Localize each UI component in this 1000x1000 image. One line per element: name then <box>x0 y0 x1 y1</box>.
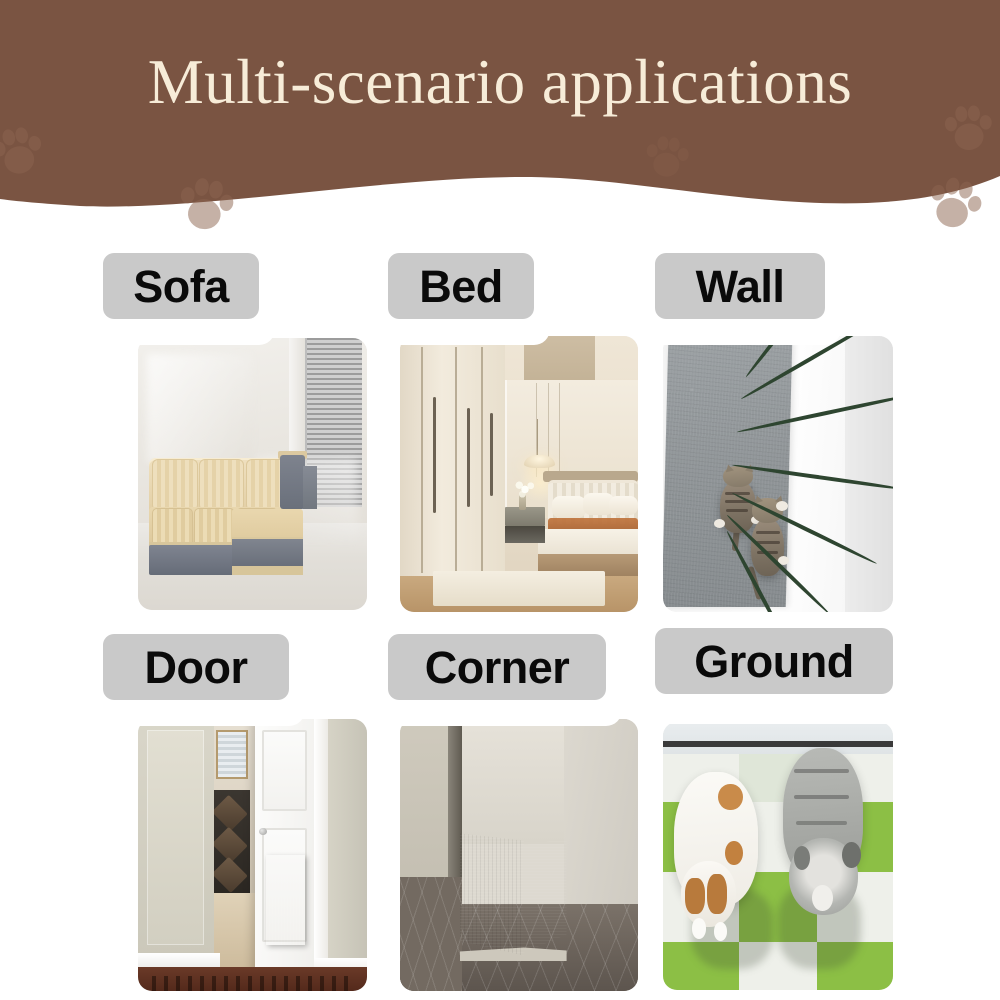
bed-photo <box>400 336 638 612</box>
door-photo <box>138 719 367 991</box>
corner-scratch-mat-left <box>460 833 524 955</box>
scenario-badge-sofa[interactable]: Sofa <box>103 253 259 319</box>
sofa-photo <box>138 338 367 610</box>
scenario-badge-door[interactable]: Door <box>103 634 289 700</box>
scenario-badge-wall[interactable]: Wall <box>655 253 825 319</box>
scenario-badge-corner[interactable]: Corner <box>388 634 606 700</box>
cat-gray-fluffy <box>769 743 884 957</box>
scenario-label-bed: Bed <box>419 264 503 309</box>
paw-print-icon <box>168 164 245 232</box>
cat-white-orange <box>668 760 778 964</box>
ground-photo <box>663 722 893 990</box>
wall-photo <box>663 336 893 612</box>
scenario-badge-ground[interactable]: Ground <box>655 628 893 694</box>
scenario-grid: Sofa <box>0 232 1000 1000</box>
door-scratch-mat <box>266 855 305 945</box>
corner-photo <box>400 719 638 991</box>
scenario-badge-bed[interactable]: Bed <box>388 253 534 319</box>
corner-scratch-mat-right <box>524 839 567 953</box>
page-header: Multi-scenario applications <box>0 0 1000 232</box>
page-title: Multi-scenario applications <box>0 46 1000 119</box>
scenario-label-door: Door <box>145 645 248 690</box>
scenario-label-corner: Corner <box>425 645 570 690</box>
scenario-label-sofa: Sofa <box>133 264 229 309</box>
scenario-label-ground: Ground <box>694 639 853 684</box>
paw-print-icon <box>638 126 696 184</box>
scenario-label-wall: Wall <box>696 264 785 309</box>
